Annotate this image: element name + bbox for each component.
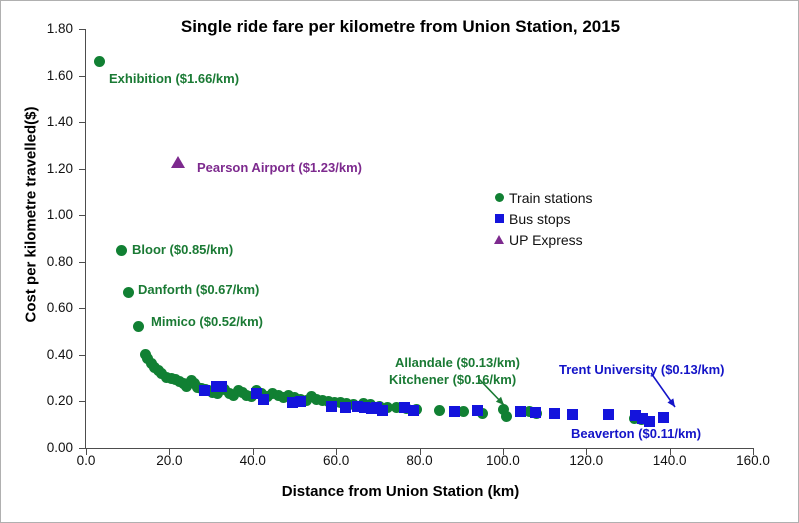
chart-figure: Single ride fare per kilometre from Unio… xyxy=(0,0,799,523)
trent-leader-arrow xyxy=(1,1,799,523)
